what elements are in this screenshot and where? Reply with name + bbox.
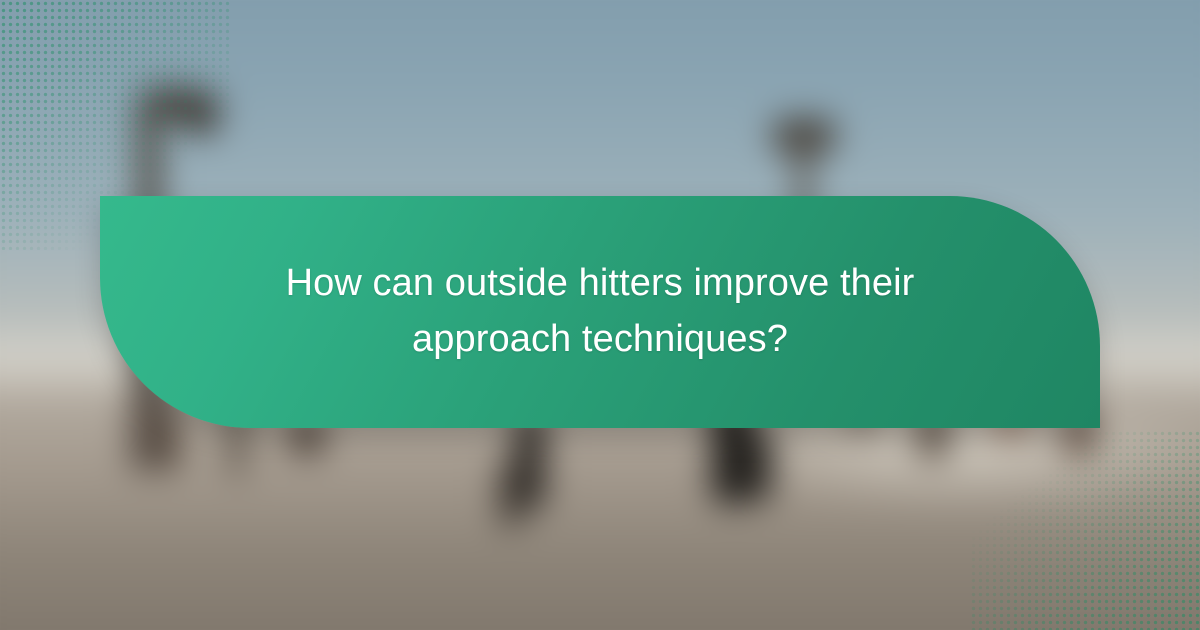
figure-silhouette (746, 430, 772, 500)
figure-silhouette (156, 412, 180, 470)
page-title: How can outside hitters improve their ap… (260, 256, 940, 368)
share-card-canvas: How can outside hitters improve their ap… (0, 0, 1200, 630)
shower-head-icon (182, 92, 218, 134)
figure-silhouette (500, 460, 522, 526)
headline-card: How can outside hitters improve their ap… (100, 196, 1100, 428)
